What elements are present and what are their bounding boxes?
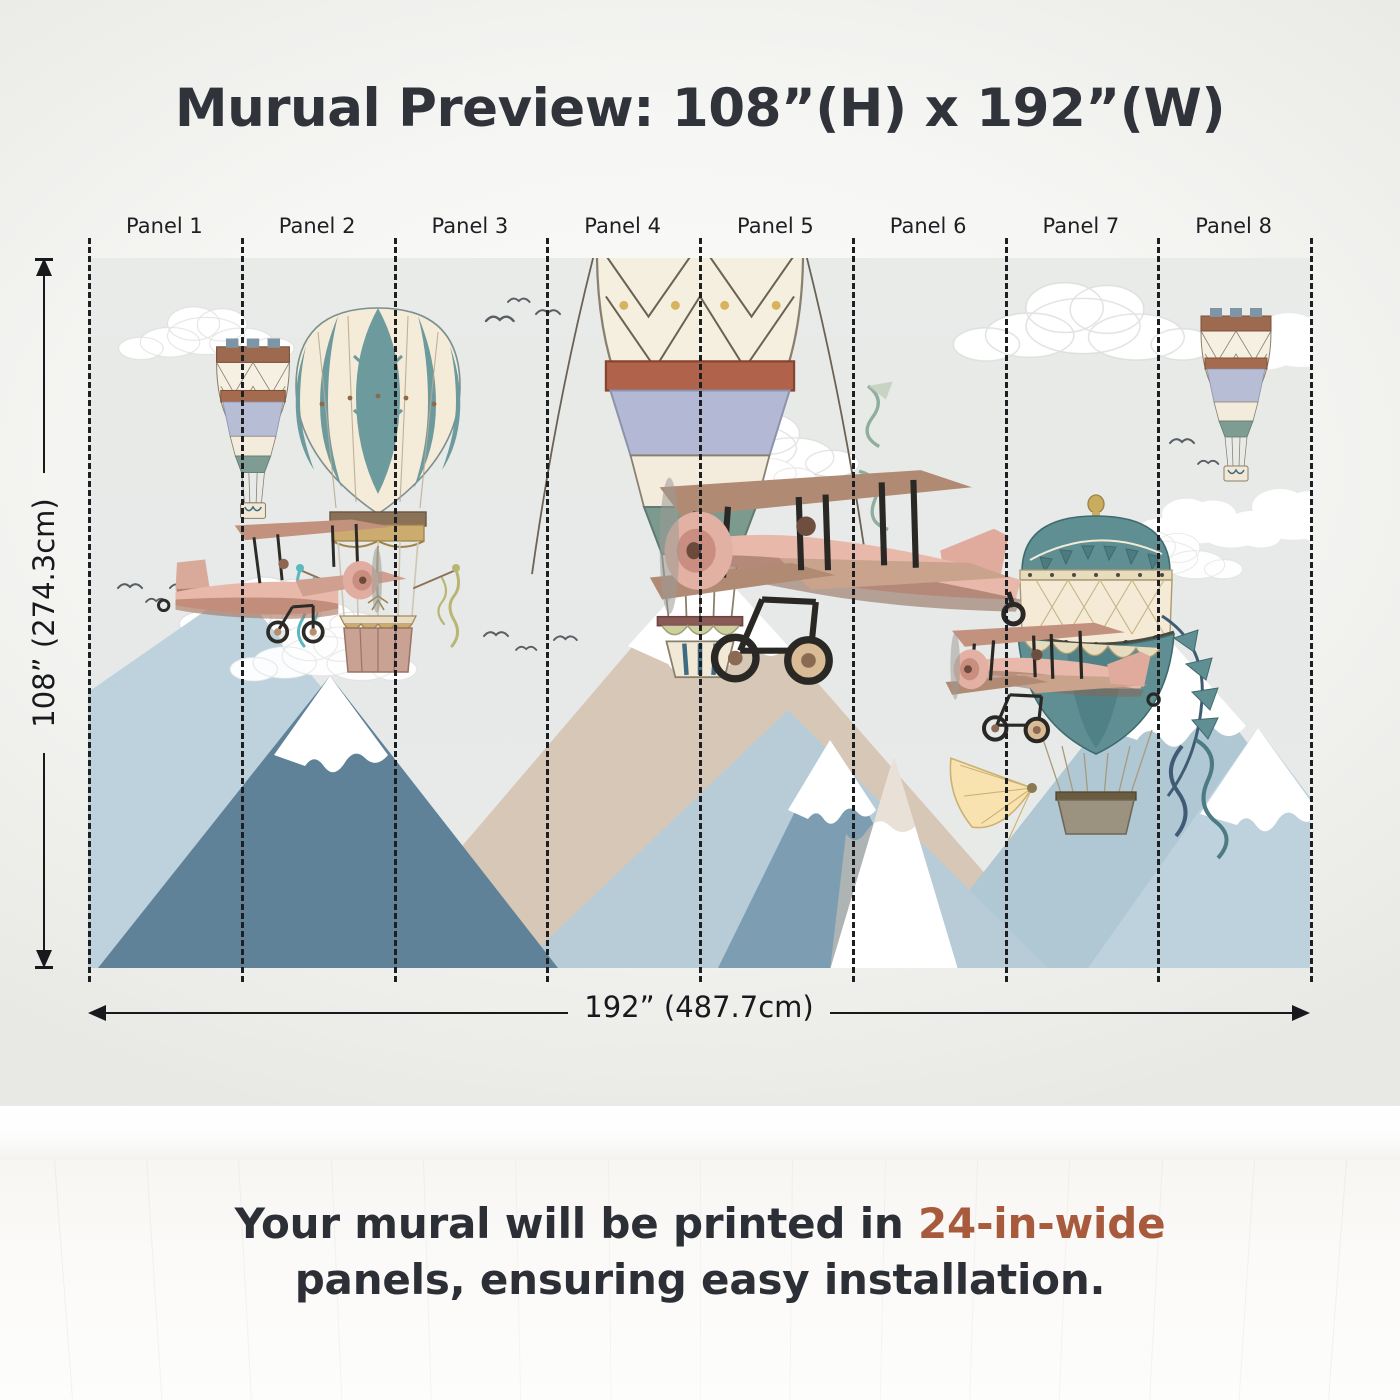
caption-line-1: Your mural will be printed in 24-in-wide [0, 1196, 1400, 1252]
caption-line-2: panels, ensuring easy installation. [0, 1252, 1400, 1308]
caption: Your mural will be printed in 24-in-wide… [0, 1196, 1400, 1309]
height-line-bottom [43, 753, 45, 958]
height-line-top [43, 268, 45, 473]
width-dimension-label: 192” (487.7cm) [570, 990, 827, 1024]
caption-highlight: 24-in-wide [918, 1199, 1165, 1248]
height-dimension: 108” (274.3cm) [43, 258, 45, 968]
width-line-right [830, 1012, 1300, 1014]
height-tick-bottom [35, 966, 53, 969]
page-title: Murual Preview: 108”(H) x 192”(W) [0, 78, 1400, 139]
width-line-left [98, 1012, 568, 1014]
baseboard [0, 1105, 1400, 1161]
caption-prefix: Your mural will be printed in [235, 1199, 918, 1248]
height-tick-top [35, 258, 53, 261]
width-dimension: 192” (487.7cm) [88, 1012, 1310, 1014]
height-dimension-label: 108” (274.3cm) [27, 498, 61, 727]
mural-preview-image [88, 258, 1310, 968]
